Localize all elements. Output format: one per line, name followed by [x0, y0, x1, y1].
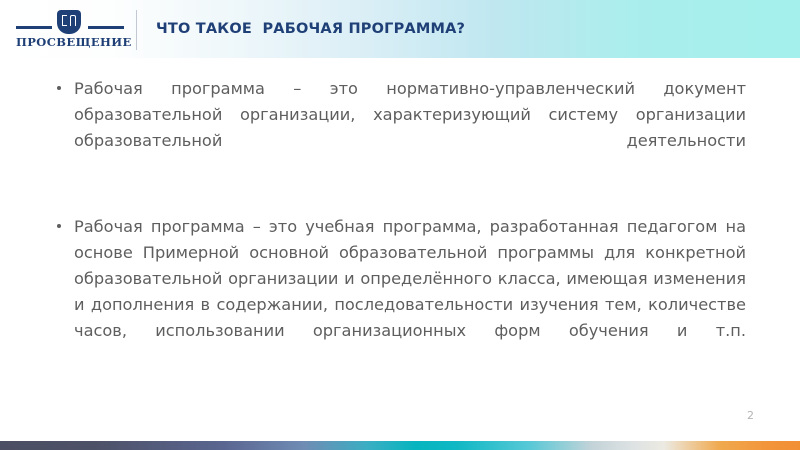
logo-emblem-row	[16, 8, 124, 34]
list-item: Рабочая программа – это нормативно-управ…	[54, 76, 746, 180]
bullet-dot-icon	[57, 224, 61, 228]
logo-rule-left	[16, 26, 52, 29]
list-item: Рабочая программа – это учебная программ…	[54, 214, 746, 370]
page-number: 2	[747, 409, 754, 422]
shield-emblem-icon	[57, 10, 81, 34]
footer-accent-bar	[0, 441, 800, 450]
bullet-dot-icon	[57, 86, 61, 90]
slide: ПРОСВЕЩЕНИЕ ЧТО ТАКОЕ РАБОЧАЯ ПРОГРАММА?…	[0, 0, 800, 450]
header-divider	[136, 10, 137, 50]
slide-content: Рабочая программа – это нормативно-управ…	[54, 76, 746, 370]
logo-wordmark: ПРОСВЕЩЕНИЕ	[16, 35, 124, 49]
bullet-text: Рабочая программа – это нормативно-управ…	[74, 76, 746, 180]
publisher-logo[interactable]: ПРОСВЕЩЕНИЕ	[16, 8, 124, 52]
page-title: ЧТО ТАКОЕ РАБОЧАЯ ПРОГРАММА?	[156, 0, 465, 58]
logo-rule-right	[88, 26, 124, 29]
bullet-text: Рабочая программа – это учебная программ…	[74, 214, 746, 370]
slide-header: ПРОСВЕЩЕНИЕ ЧТО ТАКОЕ РАБОЧАЯ ПРОГРАММА?	[0, 0, 800, 58]
